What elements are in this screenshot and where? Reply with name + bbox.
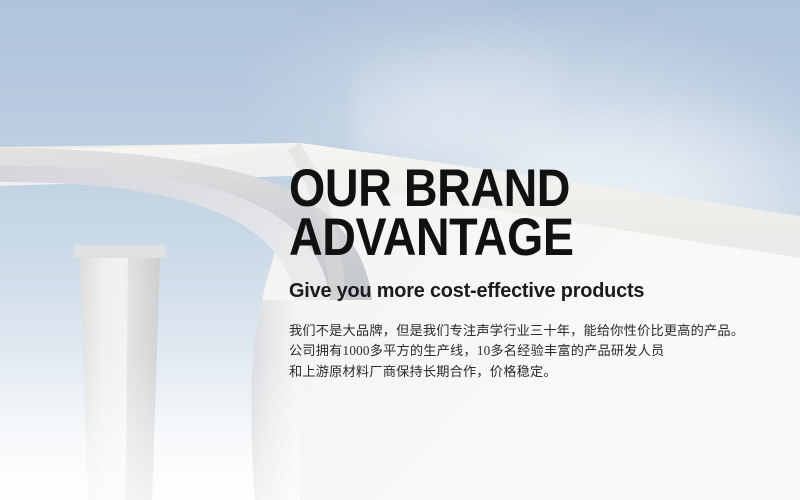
page-title: OUR BRAND ADVANTAGE (289, 164, 703, 262)
column-capital (74, 245, 166, 258)
brand-advantage-banner: OUR BRAND ADVANTAGE Give you more cost-e… (0, 0, 800, 500)
body-line-2: 公司拥有1000多平方的生产线，10多名经验丰富的产品研发人员 (289, 341, 759, 361)
page-subtitle: Give you more cost-effective products (289, 262, 745, 303)
body-copy: 我们不是大品牌，但是我们专注声学行业三十年，能给你性价比更高的产品。 公司拥有1… (289, 303, 759, 382)
lower-sky-fade (0, 360, 300, 500)
body-line-1: 我们不是大品牌，但是我们专注声学行业三十年，能给你性价比更高的产品。 (289, 321, 759, 341)
banner-copy: OUR BRAND ADVANTAGE Give you more cost-e… (289, 164, 759, 382)
body-line-3: 和上游原材料厂商保持长期合作，价格稳定。 (289, 362, 759, 382)
